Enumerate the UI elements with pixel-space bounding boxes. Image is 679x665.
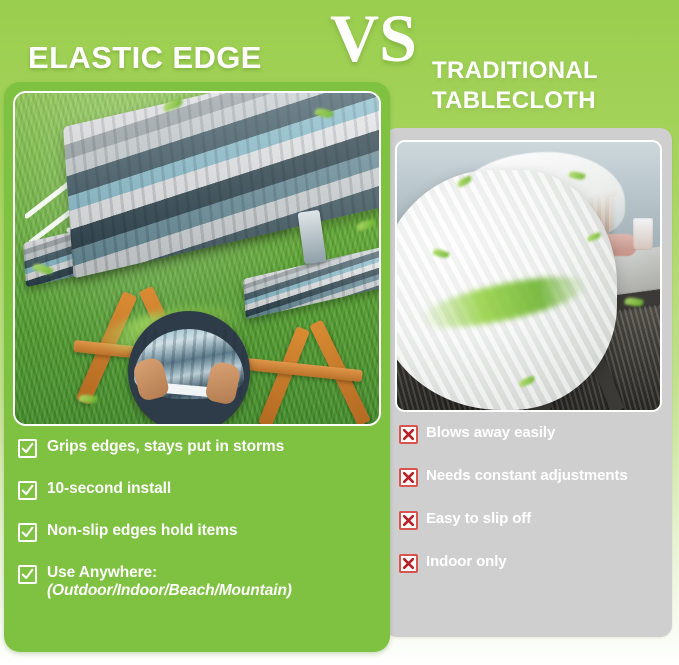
pros-list: Grips edges, stays put in storms 10-seco… <box>18 438 378 621</box>
cons-list: Blows away easily Needs constant adjustm… <box>399 424 664 596</box>
cross-icon <box>399 425 418 444</box>
list-item-label: 10-second install <box>47 480 171 498</box>
comparison-infographic: ELASTIC EDGE VS TRADITIONAL TABLECLOTH <box>0 0 679 665</box>
list-item-label-sub: (Outdoor/Indoor/Beach/Mountain) <box>47 582 292 600</box>
list-item: Use Anywhere: (Outdoor/Indoor/Beach/Moun… <box>18 564 378 599</box>
windy-tablecloth-scene <box>397 142 660 410</box>
elastic-edge-photo <box>13 91 381 426</box>
list-item-label: Blows away easily <box>426 424 555 441</box>
drinking-glass <box>633 218 653 250</box>
list-item-label: Use Anywhere: (Outdoor/Indoor/Beach/Moun… <box>47 564 292 599</box>
list-item: Non-slip edges hold items <box>18 522 378 542</box>
list-item: 10-second install <box>18 480 378 500</box>
list-item-label: Needs constant adjustments <box>426 467 628 484</box>
page-title-right: TRADITIONAL TABLECLOTH <box>432 56 598 116</box>
list-item: Blows away easily <box>399 424 664 444</box>
check-icon <box>18 523 37 542</box>
vs-label: VS <box>330 4 417 72</box>
list-item-label: Grips edges, stays put in storms <box>47 438 284 456</box>
page-title-left: ELASTIC EDGE <box>28 40 262 76</box>
check-icon <box>18 481 37 500</box>
list-item-label: Easy to slip off <box>426 510 531 527</box>
check-icon <box>18 565 37 584</box>
closeup-inset <box>128 311 250 426</box>
page-title-right-line1: TRADITIONAL <box>432 57 598 84</box>
list-item-label: Non-slip edges hold items <box>47 522 237 540</box>
cross-icon <box>399 468 418 487</box>
list-item: Easy to slip off <box>399 510 664 530</box>
cross-icon <box>399 511 418 530</box>
list-item: Grips edges, stays put in storms <box>18 438 378 458</box>
picnic-table-scene <box>15 93 379 424</box>
list-item-label: Indoor only <box>426 553 507 570</box>
cross-icon <box>399 554 418 573</box>
list-item: Indoor only <box>399 553 664 573</box>
traditional-tablecloth-panel: Blows away easily Needs constant adjustm… <box>385 128 672 637</box>
list-item: Needs constant adjustments <box>399 467 664 487</box>
page-title-right-line2: TABLECLOTH <box>432 86 598 116</box>
list-item-label-main: Use Anywhere: <box>47 564 157 581</box>
check-icon <box>18 439 37 458</box>
traditional-tablecloth-photo <box>395 140 662 412</box>
elastic-edge-panel: Grips edges, stays put in storms 10-seco… <box>4 82 390 652</box>
